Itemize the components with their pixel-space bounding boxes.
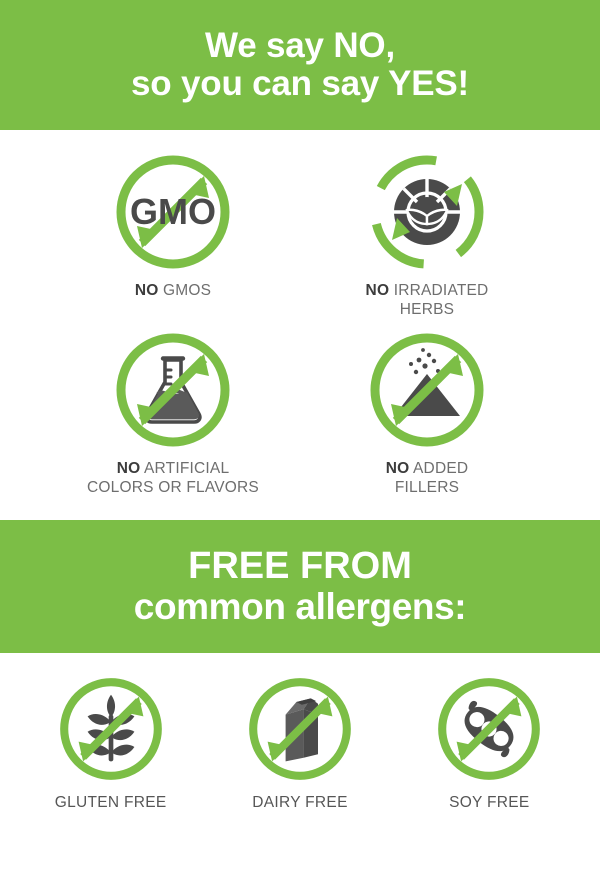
no-claim-caption: NO ADDED FILLERS — [386, 460, 469, 498]
no-added-fillers-icon — [367, 330, 487, 450]
soy-free-icon — [435, 675, 543, 783]
no-irradiated-herbs-icon — [367, 152, 487, 272]
allergen-free-row: GLUTEN FREE — [0, 653, 600, 812]
no-prefix: NO — [386, 460, 410, 477]
no-artificial-colors-flavors-icon — [113, 330, 233, 450]
no-claims-grid: GMO NO GMOS — [0, 130, 600, 498]
allergen-label: SOY FREE — [449, 794, 530, 812]
banner-top-line-2: so you can say YES! — [131, 65, 469, 103]
no-claim-artificial-colors-flavors: NO ARTIFICIAL COLORS OR FLAVORS — [46, 330, 300, 498]
banner-bottom-line-1: FREE FROM — [188, 546, 412, 587]
no-claim-gmos: GMO NO GMOS — [46, 152, 300, 320]
irradiation-disc-icon — [394, 179, 460, 245]
no-claim-caption: NO GMOS — [135, 282, 211, 301]
no-claim-irradiated-herbs: NO IRRADIATED HERBS — [300, 152, 554, 320]
no-label: IRRADIATED HERBS — [389, 282, 488, 318]
allergen-label: GLUTEN FREE — [55, 794, 167, 812]
no-label: ARTIFICIAL COLORS OR FLAVORS — [87, 460, 259, 496]
no-prefix: NO — [135, 282, 159, 299]
no-label: GMOS — [158, 282, 211, 299]
no-gmo-icon: GMO — [113, 152, 233, 272]
allergen-dairy-free: DAIRY FREE — [205, 675, 394, 812]
allergen-soy-free: SOY FREE — [395, 675, 584, 812]
gmo-glyph-text: GMO — [130, 191, 216, 232]
no-claim-added-fillers: NO ADDED FILLERS — [300, 330, 554, 498]
no-prefix: NO — [366, 282, 390, 299]
banner-top-line-1: We say NO, — [205, 27, 395, 65]
no-claim-caption: NO IRRADIATED HERBS — [366, 282, 489, 320]
banner-we-say-no: We say NO, so you can say YES! — [0, 0, 600, 130]
infographic-page: We say NO, so you can say YES! GMO NO GM… — [0, 0, 600, 882]
no-prefix: NO — [117, 460, 141, 477]
banner-bottom-line-2: common allergens: — [134, 587, 466, 627]
dairy-free-icon — [246, 675, 354, 783]
gluten-free-icon — [57, 675, 165, 783]
powder-mound-icon — [394, 348, 460, 416]
no-claim-caption: NO ARTIFICIAL COLORS OR FLAVORS — [87, 460, 259, 498]
banner-free-from-allergens: FREE FROM common allergens: — [0, 520, 600, 653]
allergen-gluten-free: GLUTEN FREE — [16, 675, 205, 812]
allergen-label: DAIRY FREE — [252, 794, 347, 812]
